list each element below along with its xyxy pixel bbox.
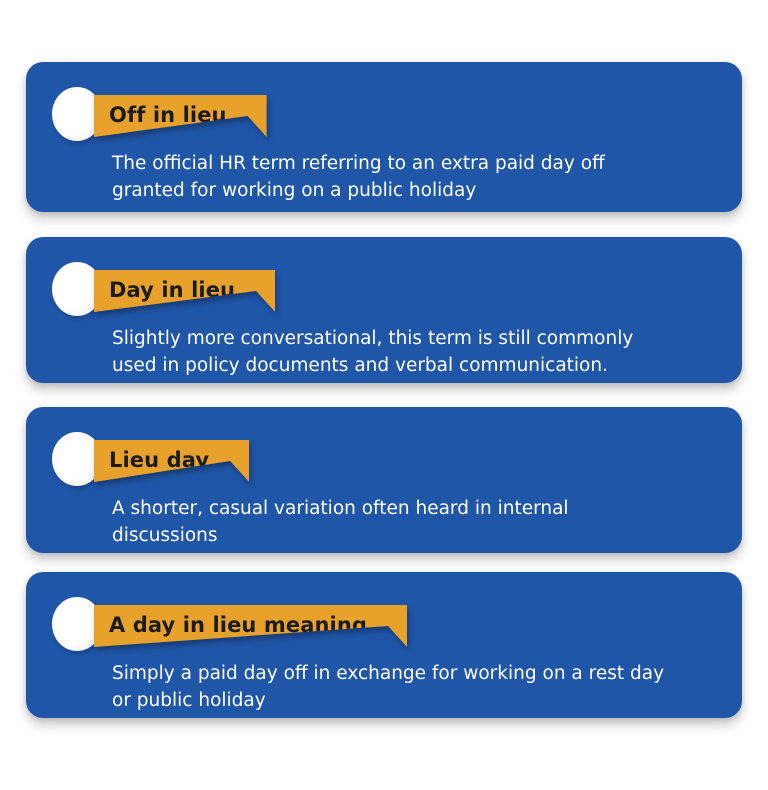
card-description: Simply a paid day off in exchange for wo… <box>112 660 677 714</box>
ribbon-banner: Off in lieu <box>94 95 267 137</box>
info-card: Day in lieu Slightly more conversational… <box>26 237 742 383</box>
card-description: A shorter, casual variation often heard … <box>112 495 677 549</box>
info-card: A day in lieu meaning Simply a paid day … <box>26 572 742 718</box>
card-title: A day in lieu meaning <box>94 605 407 647</box>
info-card: Lieu day A shorter, casual variation oft… <box>26 407 742 553</box>
info-card-list: Off in lieu The official HR term referri… <box>0 0 768 790</box>
ribbon-banner: Lieu day <box>94 440 249 482</box>
info-card: Off in lieu The official HR term referri… <box>26 62 742 212</box>
card-title: Lieu day <box>94 440 249 482</box>
card-description: The official HR term referring to an ext… <box>112 150 677 204</box>
ribbon-banner: Day in lieu <box>94 270 275 312</box>
card-description: Slightly more conversational, this term … <box>112 325 677 379</box>
ribbon-banner: A day in lieu meaning <box>94 605 407 647</box>
card-title: Day in lieu <box>94 270 275 312</box>
card-title: Off in lieu <box>94 95 267 137</box>
